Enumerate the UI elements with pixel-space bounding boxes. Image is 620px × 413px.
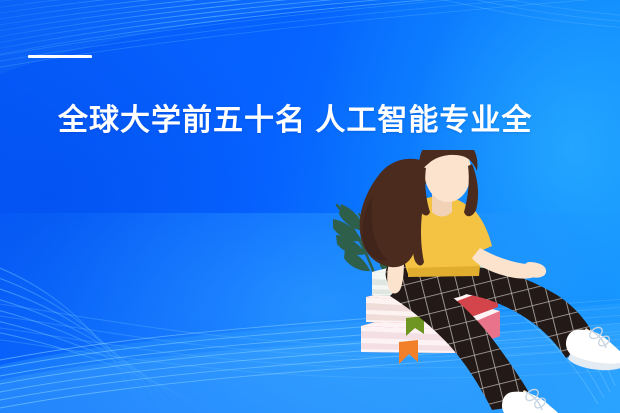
accent-rule [28, 55, 92, 58]
page-title: 全球大学前五十名 人工智能专业全 [58, 100, 578, 142]
promo-banner: 全球大学前五十名 人工智能专业全 [0, 0, 620, 413]
bookmark-orange [399, 340, 418, 364]
shoe-back [566, 325, 620, 370]
illustration-woman-on-books [0, 0, 620, 413]
